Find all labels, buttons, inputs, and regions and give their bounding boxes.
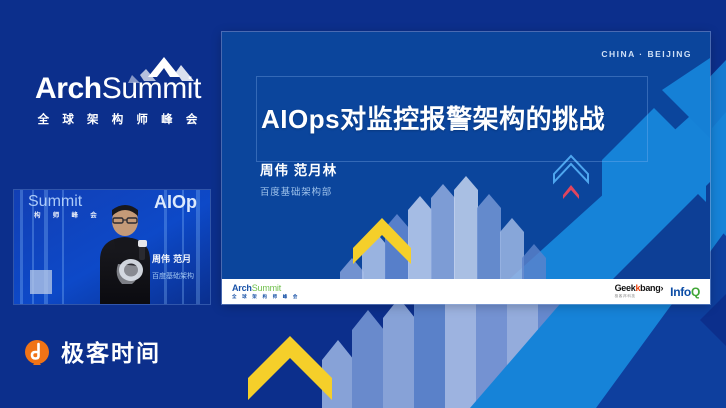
geekbang-logo: Geekkbang› 极客邦科技	[615, 284, 664, 298]
slide-speaker-names: 周伟 范月林	[260, 162, 337, 180]
geekbang-subtitle: 极客邦科技	[615, 295, 636, 299]
slide-title: AIOps对监控报警架构的挑战	[257, 105, 605, 134]
slide-speaker-block: 周伟 范月林 百度基础架构部	[260, 162, 337, 198]
svg-text:AIOp: AIOp	[154, 192, 197, 212]
geektime-label: 极客时间	[61, 342, 161, 365]
infoq-logo: InfoQ	[670, 285, 700, 299]
geekbang-geek-text: Geek	[615, 283, 636, 293]
svg-text:周伟 范月: 周伟 范月	[152, 253, 191, 265]
brand-arch-text: Arch	[35, 72, 102, 105]
slide-speaker-organization: 百度基础架构部	[260, 184, 337, 198]
archsummit-wordmark: ArchSummit	[28, 74, 208, 104]
brand-subtitle: 全 球 架 构 师 峰 会	[28, 111, 208, 127]
geekbang-wordmark: Geekkbang›	[615, 284, 664, 293]
slide-title-box: AIOps对监控报警架构的挑战	[256, 76, 648, 162]
geektime-circle-icon	[22, 338, 52, 368]
geektime-logo: 极客时间	[22, 338, 161, 368]
slide-footer-bar: ArchSummit 全 球 架 构 师 峰 会 Geekkbang› 极客邦科…	[222, 279, 710, 304]
footer-archsummit-subtitle: 全 球 架 构 师 峰 会	[232, 294, 300, 300]
infoq-info-text: Info	[670, 285, 691, 299]
slide-content: CHINA · BEIJING AIOps对监控报警架构的挑战 周伟 范月林 百…	[222, 32, 710, 304]
video-frame: Summit 构 师 峰 会 AIOp 周伟 范月 百度基础架构	[14, 190, 210, 304]
archsummit-brand-logo: ArchSummit 全 球 架 构 师 峰 会	[28, 74, 208, 127]
footer-arch-text: Arch	[232, 283, 252, 293]
slide-footer-sponsor-logos: Geekkbang› 极客邦科技 InfoQ	[615, 284, 700, 298]
footer-summit-text: Summit	[252, 283, 281, 293]
svg-text:百度基础架构: 百度基础架构	[152, 271, 194, 280]
svg-text:Summit: Summit	[28, 193, 83, 210]
presentation-slide[interactable]: CHINA · BEIJING AIOps对监控报警架构的挑战 周伟 范月林 百…	[222, 32, 710, 304]
screenshot-root: ArchSummit 全 球 架 构 师 峰 会	[0, 0, 726, 408]
geekbang-bang-text: bang›	[640, 283, 663, 293]
mountain-peak-icon	[124, 55, 202, 85]
video-still-image: Summit 构 师 峰 会 AIOp 周伟 范月 百度基础架构	[14, 190, 210, 304]
speaker-video-thumbnail[interactable]: Summit 构 师 峰 会 AIOp 周伟 范月 百度基础架构	[14, 190, 210, 304]
slide-footer-archsummit-logo: ArchSummit 全 球 架 构 师 峰 会	[232, 284, 300, 300]
footer-archsummit-wordmark: ArchSummit	[232, 284, 300, 293]
svg-text:构 师 峰 会: 构 师 峰 会	[34, 210, 102, 219]
slide-location-label: CHINA · BEIJING	[601, 49, 692, 59]
infoq-q-text: Q	[691, 285, 700, 299]
